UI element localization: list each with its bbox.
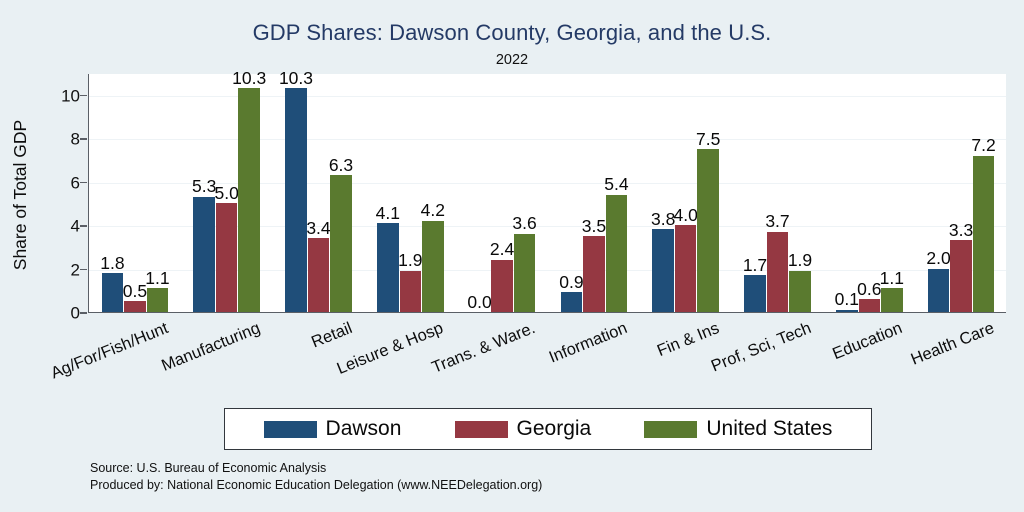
x-axis-tick-label: Information <box>546 319 630 368</box>
bar-slot: 1.9 <box>789 74 811 312</box>
bar[interactable]: 4.2 <box>422 221 444 312</box>
bar-value-label: 1.1 <box>880 269 904 287</box>
legend-label: Dawson <box>326 417 402 441</box>
chart-subtitle: 2022 <box>0 52 1024 68</box>
y-axis: 0246810 <box>0 74 88 315</box>
x-axis-tick-label: Trans. & Ware. <box>429 319 538 378</box>
bar-slot: 3.8 <box>652 74 674 312</box>
x-axis-tick-label: Retail <box>308 319 354 352</box>
bar[interactable]: 0.5 <box>124 301 146 312</box>
page-title: GDP Shares: Dawson County, Georgia, and … <box>0 20 1024 46</box>
bar-slot: 0.6 <box>859 74 881 312</box>
bar-group: 0.02.43.6 <box>456 74 548 312</box>
bar[interactable]: 7.5 <box>697 149 719 312</box>
bar[interactable]: 10.3 <box>285 88 307 312</box>
bar-value-label: 5.4 <box>604 175 628 193</box>
bar-group: 3.84.07.5 <box>640 74 732 312</box>
legend-swatch <box>264 421 317 438</box>
bar-value-label: 1.1 <box>145 269 169 287</box>
x-axis-tick-label: Fin & Ins <box>654 319 721 361</box>
bar-value-label: 0.1 <box>835 290 859 308</box>
y-axis-tick-label: 6 <box>71 174 80 191</box>
bar-cluster: 10.33.46.3 <box>285 74 352 312</box>
legend-item[interactable]: Georgia <box>455 417 592 441</box>
bar-group: 1.73.71.9 <box>732 74 824 312</box>
y-axis-tick-mark <box>80 182 87 184</box>
x-axis-tick-label: Health Care <box>908 319 997 370</box>
bar[interactable]: 0.9 <box>561 292 583 312</box>
bar-slot: 5.4 <box>606 74 628 312</box>
x-axis-tick-labels: Ag/For/Fish/HuntManufacturingRetailLeisu… <box>0 313 1024 393</box>
bar[interactable]: 1.8 <box>102 273 124 312</box>
bar[interactable]: 5.0 <box>216 203 238 312</box>
bar-value-label: 4.2 <box>421 201 445 219</box>
bar[interactable]: 1.7 <box>744 275 766 312</box>
x-axis-tick-label: Education <box>830 319 905 364</box>
bar-cluster: 4.11.94.2 <box>377 74 444 312</box>
bar[interactable]: 3.5 <box>583 236 605 312</box>
y-axis-tick-mark <box>80 269 87 271</box>
legend-swatch <box>644 421 697 438</box>
y-axis-tick-label: 2 <box>71 261 80 278</box>
bar-value-label: 0.0 <box>467 293 491 311</box>
bar-value-label: 1.7 <box>743 256 767 274</box>
bar-cluster: 0.93.55.4 <box>561 74 628 312</box>
bar-value-label: 0.5 <box>123 282 147 300</box>
y-axis-tick-label: 10 <box>61 87 80 104</box>
legend-label: Georgia <box>517 417 592 441</box>
bar-value-label: 5.0 <box>215 184 239 202</box>
bar-slot: 1.8 <box>102 74 124 312</box>
bar[interactable]: 3.4 <box>308 238 330 312</box>
bar-slot: 3.3 <box>950 74 972 312</box>
bar[interactable]: 3.8 <box>652 229 674 312</box>
bar[interactable]: 1.9 <box>400 271 422 312</box>
bar-slot: 0.9 <box>561 74 583 312</box>
bar[interactable]: 1.1 <box>147 288 169 312</box>
bar-group: 4.11.94.2 <box>364 74 456 312</box>
bar-value-label: 10.3 <box>232 69 266 87</box>
legend-label: United States <box>706 417 832 441</box>
bar-value-label: 2.4 <box>490 240 514 258</box>
legend-item[interactable]: Dawson <box>264 417 402 441</box>
bar[interactable]: 7.2 <box>973 156 995 312</box>
y-axis-tick-label: 8 <box>71 131 80 148</box>
bar-value-label: 7.2 <box>971 136 995 154</box>
bar-slot: 7.2 <box>973 74 995 312</box>
bar-slot: 0.1 <box>836 74 858 312</box>
bar[interactable]: 2.4 <box>491 260 513 312</box>
bar-cluster: 5.35.010.3 <box>193 74 260 312</box>
bar-value-label: 3.8 <box>651 210 675 228</box>
bar-slot: 10.3 <box>238 74 260 312</box>
bar-slot: 1.7 <box>744 74 766 312</box>
bar-slot: 3.6 <box>514 74 536 312</box>
bar-slot: 5.0 <box>216 74 238 312</box>
bar-slot: 10.3 <box>285 74 307 312</box>
bar-cluster: 2.03.37.2 <box>928 74 995 312</box>
bar-value-label: 4.0 <box>674 206 698 224</box>
bar-value-label: 1.9 <box>398 251 422 269</box>
footer-producer: Produced by: National Economic Education… <box>90 477 542 494</box>
bar[interactable]: 0.6 <box>859 299 881 312</box>
footer-source: Source: U.S. Bureau of Economic Analysis <box>90 460 542 477</box>
bar-value-label: 0.9 <box>559 273 583 291</box>
legend-swatch <box>455 421 508 438</box>
bar-cluster: 1.73.71.9 <box>744 74 811 312</box>
x-axis-tick-label: Ag/For/Fish/Hunt <box>48 319 171 383</box>
bar[interactable]: 5.4 <box>606 195 628 312</box>
bar-slot: 3.4 <box>308 74 330 312</box>
bar-value-label: 6.3 <box>329 156 353 174</box>
bar-slot: 1.9 <box>400 74 422 312</box>
x-axis-tick-label: Manufacturing <box>159 319 263 376</box>
bar-slot: 2.0 <box>928 74 950 312</box>
bar-cluster: 1.80.51.1 <box>102 74 169 312</box>
legend-item[interactable]: United States <box>644 417 832 441</box>
bar-value-label: 3.7 <box>765 212 789 230</box>
bar[interactable]: 10.3 <box>238 88 260 312</box>
bar-slot: 2.4 <box>491 74 513 312</box>
bar-slot: 5.3 <box>193 74 215 312</box>
bar-slot: 6.3 <box>330 74 352 312</box>
bar-slot: 1.1 <box>147 74 169 312</box>
plot-area: 1.80.51.15.35.010.310.33.46.34.11.94.20.… <box>88 74 1006 313</box>
bar-value-label: 7.5 <box>696 130 720 148</box>
y-axis-tick-mark <box>80 225 87 227</box>
bar[interactable]: 3.7 <box>767 232 789 312</box>
bar[interactable]: 1.9 <box>789 271 811 312</box>
bar[interactable]: 2.0 <box>928 269 950 312</box>
bar-value-label: 3.6 <box>512 214 536 232</box>
bar-value-label: 2.0 <box>926 249 950 267</box>
bar-group: 0.93.55.4 <box>548 74 640 312</box>
bar[interactable]: 5.3 <box>193 197 215 312</box>
x-axis-tick-label: Prof, Sci, Tech <box>708 319 813 376</box>
bar-value-label: 4.1 <box>376 204 400 222</box>
bar-slot: 7.5 <box>697 74 719 312</box>
bar-group: 0.10.61.1 <box>823 74 915 312</box>
bar-slot: 3.5 <box>583 74 605 312</box>
legend: DawsonGeorgiaUnited States <box>224 408 872 450</box>
bar[interactable]: 4.1 <box>377 223 399 312</box>
bar[interactable]: 3.6 <box>514 234 536 312</box>
bar[interactable]: 6.3 <box>330 175 352 312</box>
bar-value-label: 3.4 <box>306 219 330 237</box>
bar-value-label: 1.9 <box>788 251 812 269</box>
y-axis-tick-mark <box>80 95 87 97</box>
bar-group: 1.80.51.1 <box>89 74 181 312</box>
bar[interactable]: 0.1 <box>836 310 858 312</box>
bar-value-label: 3.3 <box>949 221 973 239</box>
bar-value-label: 1.8 <box>100 254 124 272</box>
bar[interactable]: 1.1 <box>881 288 903 312</box>
bar-cluster: 0.02.43.6 <box>469 74 536 312</box>
y-axis-tick-label: 4 <box>71 218 80 235</box>
bar-cluster: 3.84.07.5 <box>652 74 719 312</box>
bar-slot: 4.2 <box>422 74 444 312</box>
bar-value-label: 5.3 <box>192 177 216 195</box>
bar[interactable]: 3.3 <box>950 240 972 312</box>
bar-slot: 0.0 <box>469 74 491 312</box>
bar-slot: 4.0 <box>675 74 697 312</box>
bar[interactable]: 4.0 <box>675 225 697 312</box>
bar-slot: 0.5 <box>124 74 146 312</box>
y-axis-tick-mark <box>80 138 87 140</box>
bar-slot: 1.1 <box>881 74 903 312</box>
bar-slot: 4.1 <box>377 74 399 312</box>
bar-group: 2.03.37.2 <box>915 74 1007 312</box>
bar-slot: 3.7 <box>767 74 789 312</box>
bar-group: 10.33.46.3 <box>273 74 365 312</box>
bar-value-label: 3.5 <box>582 217 606 235</box>
bar-value-label: 0.6 <box>857 280 881 298</box>
bar-cluster: 0.10.61.1 <box>836 74 903 312</box>
footer: Source: U.S. Bureau of Economic Analysis… <box>90 460 542 493</box>
bar-group: 5.35.010.3 <box>181 74 273 312</box>
